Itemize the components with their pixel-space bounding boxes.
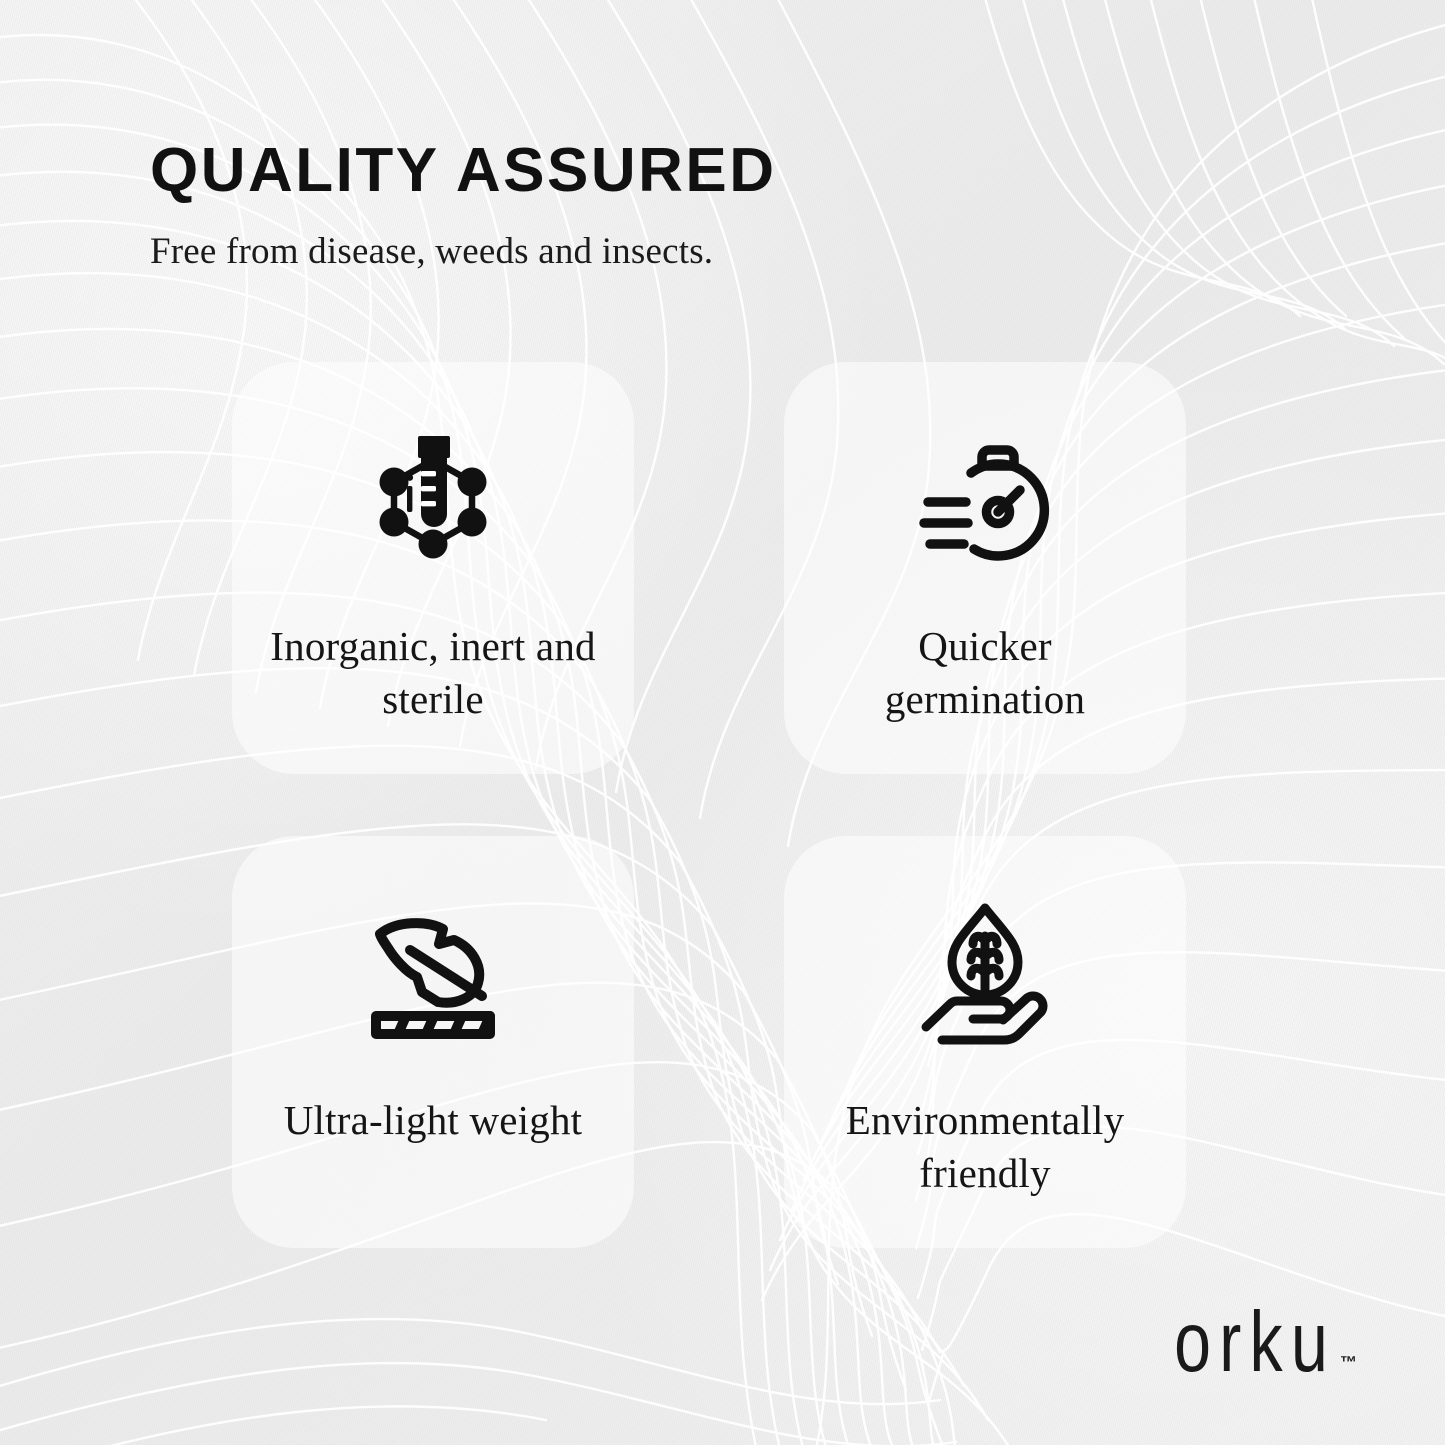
brand-wordmark: orku <box>1174 1302 1336 1383</box>
brand-logo: orku ™ <box>1160 1315 1357 1383</box>
feature-card-eco[interactable]: Environmentally friendly <box>784 836 1186 1248</box>
stopwatch-speed-icon <box>910 424 1060 574</box>
feature-card-lightweight[interactable]: Ultra-light weight <box>232 836 634 1248</box>
feature-card-label: Quicker germination <box>815 620 1155 727</box>
feather-weight-icon <box>358 898 508 1048</box>
feature-card-label: Inorganic, inert and sterile <box>263 620 603 727</box>
feature-card-label: Ultra-light weight <box>284 1094 583 1147</box>
page-subtitle: Free from disease, weeds and insects. <box>150 230 777 273</box>
poster-canvas: QUALITY ASSURED Free from disease, weeds… <box>0 0 1445 1445</box>
feature-card-germination[interactable]: Quicker germination <box>784 362 1186 774</box>
feature-card-label: Environmentally friendly <box>815 1094 1155 1201</box>
feature-card-inorganic[interactable]: Inorganic, inert and sterile <box>232 362 634 774</box>
page-title: QUALITY ASSURED <box>150 140 777 202</box>
feature-grid: Inorganic, inert and sterile <box>232 362 1192 1248</box>
trademark-symbol: ™ <box>1340 1353 1357 1373</box>
leaf-in-hand-icon <box>910 898 1060 1048</box>
molecule-test-tube-icon <box>358 424 508 574</box>
header: QUALITY ASSURED Free from disease, weeds… <box>150 140 777 273</box>
